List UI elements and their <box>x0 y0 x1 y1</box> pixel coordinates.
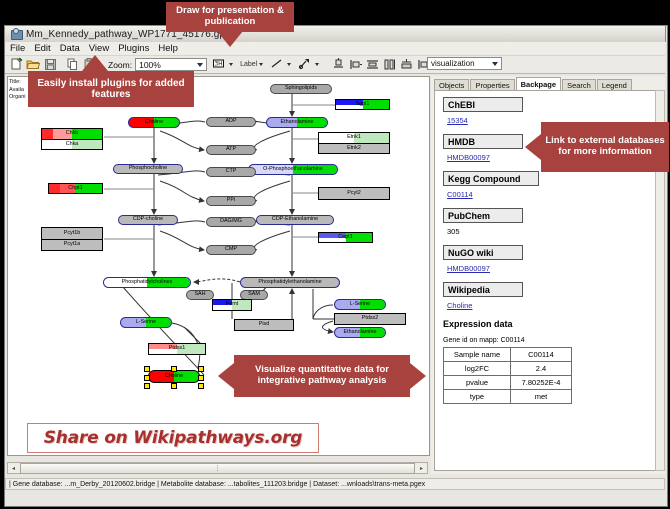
zoom-value: 100% <box>136 60 161 70</box>
expr-key-sample-name: Sample name <box>444 348 511 362</box>
align-distribute-icon[interactable] <box>365 57 380 72</box>
menu-item-help[interactable]: Help <box>158 43 178 54</box>
tab-objects[interactable]: Objects <box>434 79 469 90</box>
tab-properties[interactable]: Properties <box>470 79 514 90</box>
table-row: Sample name C00114 <box>444 348 572 362</box>
stack-icon[interactable] <box>399 57 414 72</box>
metabolite-node-ethanolamine-right[interactable]: Ethanolamine <box>334 327 386 338</box>
gene-node-pcyt2[interactable]: Pcyt2 <box>318 187 390 200</box>
chevron-down-icon[interactable] <box>259 63 263 66</box>
db-block-wikipedia: Wikipedia Choline <box>443 282 653 310</box>
gene-node-pcyt1a[interactable]: Pcyt1a <box>41 239 103 251</box>
gene-node-ptdss2[interactable]: Ptdss2 <box>334 313 406 325</box>
db-header-wikipedia: Wikipedia <box>443 282 523 297</box>
datanode-tool[interactable]: 3H <box>212 57 237 72</box>
metabolite-node-l-serine-right[interactable]: L-Serine <box>334 299 386 310</box>
gene-node-etnk1[interactable]: Etnk1 <box>318 132 390 143</box>
chevron-down-icon[interactable] <box>287 63 291 66</box>
selection-handle[interactable] <box>171 366 177 372</box>
metabolite-node-choline-top[interactable]: Choline <box>128 117 180 128</box>
selection-handle[interactable] <box>171 383 177 389</box>
align-vertical-icon[interactable] <box>382 57 397 72</box>
gene-node-chpt1[interactable]: Chpt1 <box>48 183 103 194</box>
gene-node-cept1[interactable]: Cept1 <box>318 232 373 243</box>
callout-visualize-quantitative-data: Visualize quantitative data for integrat… <box>234 355 410 397</box>
table-row: type met <box>444 390 572 404</box>
label-tool[interactable]: Label <box>240 61 267 68</box>
cofactor-node-cmp[interactable]: CMP <box>206 245 256 255</box>
zoom-select[interactable]: 100% <box>135 58 207 71</box>
menu-item-edit[interactable]: Edit <box>34 43 50 54</box>
menu-item-plugins[interactable]: Plugins <box>118 43 149 54</box>
new-file-icon[interactable] <box>9 57 24 72</box>
scroll-right-arrow-icon[interactable]: ▸ <box>416 463 427 473</box>
db-block-chebi: ChEBI 15354 <box>443 97 653 125</box>
db-header-pubchem: PubChem <box>443 208 523 223</box>
expr-value-sample-name: C00114 <box>511 348 572 362</box>
metabolite-node-cdp-choline[interactable]: CDP-choline <box>118 215 178 225</box>
expression-table: Sample name C00114 log2FC 2.4 pvalue 7.8… <box>443 347 572 404</box>
callout-arrow-down <box>217 31 243 47</box>
expr-value-log2fc: 2.4 <box>511 362 572 376</box>
expr-key-log2fc: log2FC <box>444 362 511 376</box>
menu-item-file[interactable]: File <box>10 43 25 54</box>
callout-easily-install-plugins: Easily install plugins for added feature… <box>28 71 194 107</box>
title-bar: Mm_Kennedy_pathway_WP1771_45176.gpml <box>4 25 666 42</box>
visualization-value: visualization <box>428 59 475 68</box>
gene-node-chka[interactable]: Chka <box>41 139 103 150</box>
line-tool[interactable] <box>270 57 295 72</box>
expression-data-heading: Expression data <box>443 319 653 329</box>
db-header-kegg-compound: Kegg Compound <box>443 171 539 186</box>
datanode-icon[interactable]: 3H <box>212 57 227 72</box>
metabolite-node-sphingolipids[interactable]: Sphingolipids <box>270 84 332 94</box>
menu-item-data[interactable]: Data <box>60 43 80 54</box>
open-folder-icon[interactable] <box>26 57 41 72</box>
tab-legend[interactable]: Legend <box>597 79 632 90</box>
gene-node-ptdss1[interactable]: Ptdss1 <box>148 343 206 355</box>
db-block-pubchem: PubChem 305 <box>443 208 653 236</box>
chevron-down-icon[interactable] <box>315 63 319 66</box>
share-badge-text: Share on Wikipathways.org <box>44 428 302 448</box>
cofactor-node-dag-mg[interactable]: DAG/MG <box>206 217 256 227</box>
copy-icon[interactable] <box>65 57 80 72</box>
gene-node-pemt[interactable]: Pemt <box>212 299 252 311</box>
pathway-meta: Title: Availa Organi <box>9 79 26 102</box>
expr-value-pvalue: 7.80252E-4 <box>511 376 572 390</box>
db-block-nugo: NuGO wiki HMDB00097 <box>443 245 653 273</box>
gene-id-line: Gene id on mapp: C00114 <box>443 337 653 344</box>
table-row: log2FC 2.4 <box>444 362 572 376</box>
selection-handle[interactable] <box>198 366 204 372</box>
metabolite-node-o-phosphoethanolamine[interactable]: O-Phosphoethanolamine <box>248 164 338 175</box>
db-link-kegg-compound[interactable]: C00114 <box>447 190 653 199</box>
callout-link-to-external-databases: Link to external databases for more info… <box>541 122 669 172</box>
metabolite-node-phosphatidylcholines[interactable]: Phosphatidylcholines <box>103 277 191 288</box>
save-icon[interactable] <box>43 57 58 72</box>
line-icon[interactable] <box>270 57 285 72</box>
menu-bar: File Edit Data View Plugins Help <box>5 42 665 56</box>
pathvisio-icon <box>10 28 22 40</box>
interaction-icon[interactable] <box>298 57 313 72</box>
cofactor-node-ppi[interactable]: PPi <box>206 196 256 206</box>
callout-arrow-left <box>525 134 541 160</box>
scroll-thumb[interactable]: ⋮ <box>20 463 415 474</box>
share-badge: Share on Wikipathways.org <box>27 423 319 453</box>
align-top-icon[interactable] <box>331 57 346 72</box>
gene-node-chkb[interactable]: Chkb <box>41 128 103 139</box>
gene-node-pisd[interactable]: Pisd <box>234 319 294 331</box>
gene-node-pcyt1b[interactable]: Pcyt1b <box>41 227 103 239</box>
expr-key-pvalue: pvalue <box>444 376 511 390</box>
chevron-down-icon <box>492 62 498 66</box>
label-tool-text: Label <box>240 61 257 68</box>
zoom-label: Zoom: <box>108 60 132 70</box>
metabolite-node-l-serine-left[interactable]: L-Serine <box>120 317 172 328</box>
callout-arrow-left <box>218 363 234 389</box>
expr-key-type: type <box>444 390 511 404</box>
cofactor-node-adp[interactable]: ADP <box>206 117 256 127</box>
callout-arrow-up <box>82 55 108 71</box>
db-header-chebi: ChEBI <box>443 97 523 112</box>
gene-node-sgpl1[interactable]: Sgpl1 <box>335 99 390 110</box>
selection-handle[interactable] <box>144 375 150 381</box>
meta-title: Title: <box>9 79 26 87</box>
cofactor-node-atp[interactable]: ATP <box>206 145 256 155</box>
tab-search[interactable]: Search <box>562 79 596 90</box>
callout-arrow-right <box>410 363 426 389</box>
selection-handle[interactable] <box>198 375 204 381</box>
side-panel-tabs: Objects Properties Backpage Search Legen… <box>431 76 633 90</box>
db-block-kegg: Kegg Compound C00114 <box>443 171 653 199</box>
expr-value-type: met <box>511 390 572 404</box>
gene-node-etnk2[interactable]: Etnk2 <box>318 143 390 154</box>
selection-handle[interactable] <box>144 366 150 372</box>
metabolite-node-phosphocholine[interactable]: Phosphocholine <box>113 164 183 174</box>
db-header-nugo-wiki: NuGO wiki <box>443 245 523 260</box>
callout-draw-for-presentation: Draw for presentation & publication <box>166 2 294 32</box>
status-bar: | Gene database: ...m_Derby_20120602.bri… <box>5 478 665 490</box>
align-left-icon[interactable] <box>348 57 363 72</box>
chevron-down-icon <box>197 63 203 67</box>
status-bar-text: | Gene database: ...m_Derby_20120602.bri… <box>9 481 425 488</box>
svg-text:3H: 3H <box>214 61 222 68</box>
cofactor-node-sah[interactable]: SAH <box>186 290 214 300</box>
pathway-canvas[interactable]: Title: Availa Organi <box>7 76 430 456</box>
selection-handle[interactable] <box>198 383 204 389</box>
interaction-tool[interactable] <box>298 57 323 72</box>
meta-organism: Organi <box>9 94 26 102</box>
meta-availability: Availa <box>9 87 26 95</box>
screenshot-root: Mm_Kennedy_pathway_WP1771_45176.gpml Fil… <box>0 0 670 509</box>
metabolite-node-phosphatidylethanolamine[interactable]: Phosphatidylethanolamine <box>240 277 340 288</box>
db-value-pubchem: 305 <box>447 227 653 236</box>
table-row: pvalue 7.80252E-4 <box>444 376 572 390</box>
tab-backpage[interactable]: Backpage <box>516 77 561 90</box>
visualization-select[interactable]: visualization <box>427 57 502 70</box>
db-header-hmdb: HMDB <box>443 134 523 149</box>
chevron-down-icon[interactable] <box>229 63 233 66</box>
db-link-wikipedia[interactable]: Choline <box>447 301 653 310</box>
canvas-hscrollbar[interactable]: ◂ ⋮ ▸ <box>7 462 428 474</box>
menu-item-view[interactable]: View <box>89 43 109 54</box>
scroll-left-arrow-icon[interactable]: ◂ <box>8 463 19 473</box>
db-link-nugo-wiki[interactable]: HMDB00097 <box>447 264 653 273</box>
metabolite-node-ethanolamine[interactable]: Ethanolamine <box>266 117 328 128</box>
cofactor-node-ctp[interactable]: CTP <box>206 167 256 177</box>
selection-handle[interactable] <box>144 383 150 389</box>
metabolite-node-cdp-ethanolamine[interactable]: CDP-Ethanolamine <box>256 215 334 225</box>
